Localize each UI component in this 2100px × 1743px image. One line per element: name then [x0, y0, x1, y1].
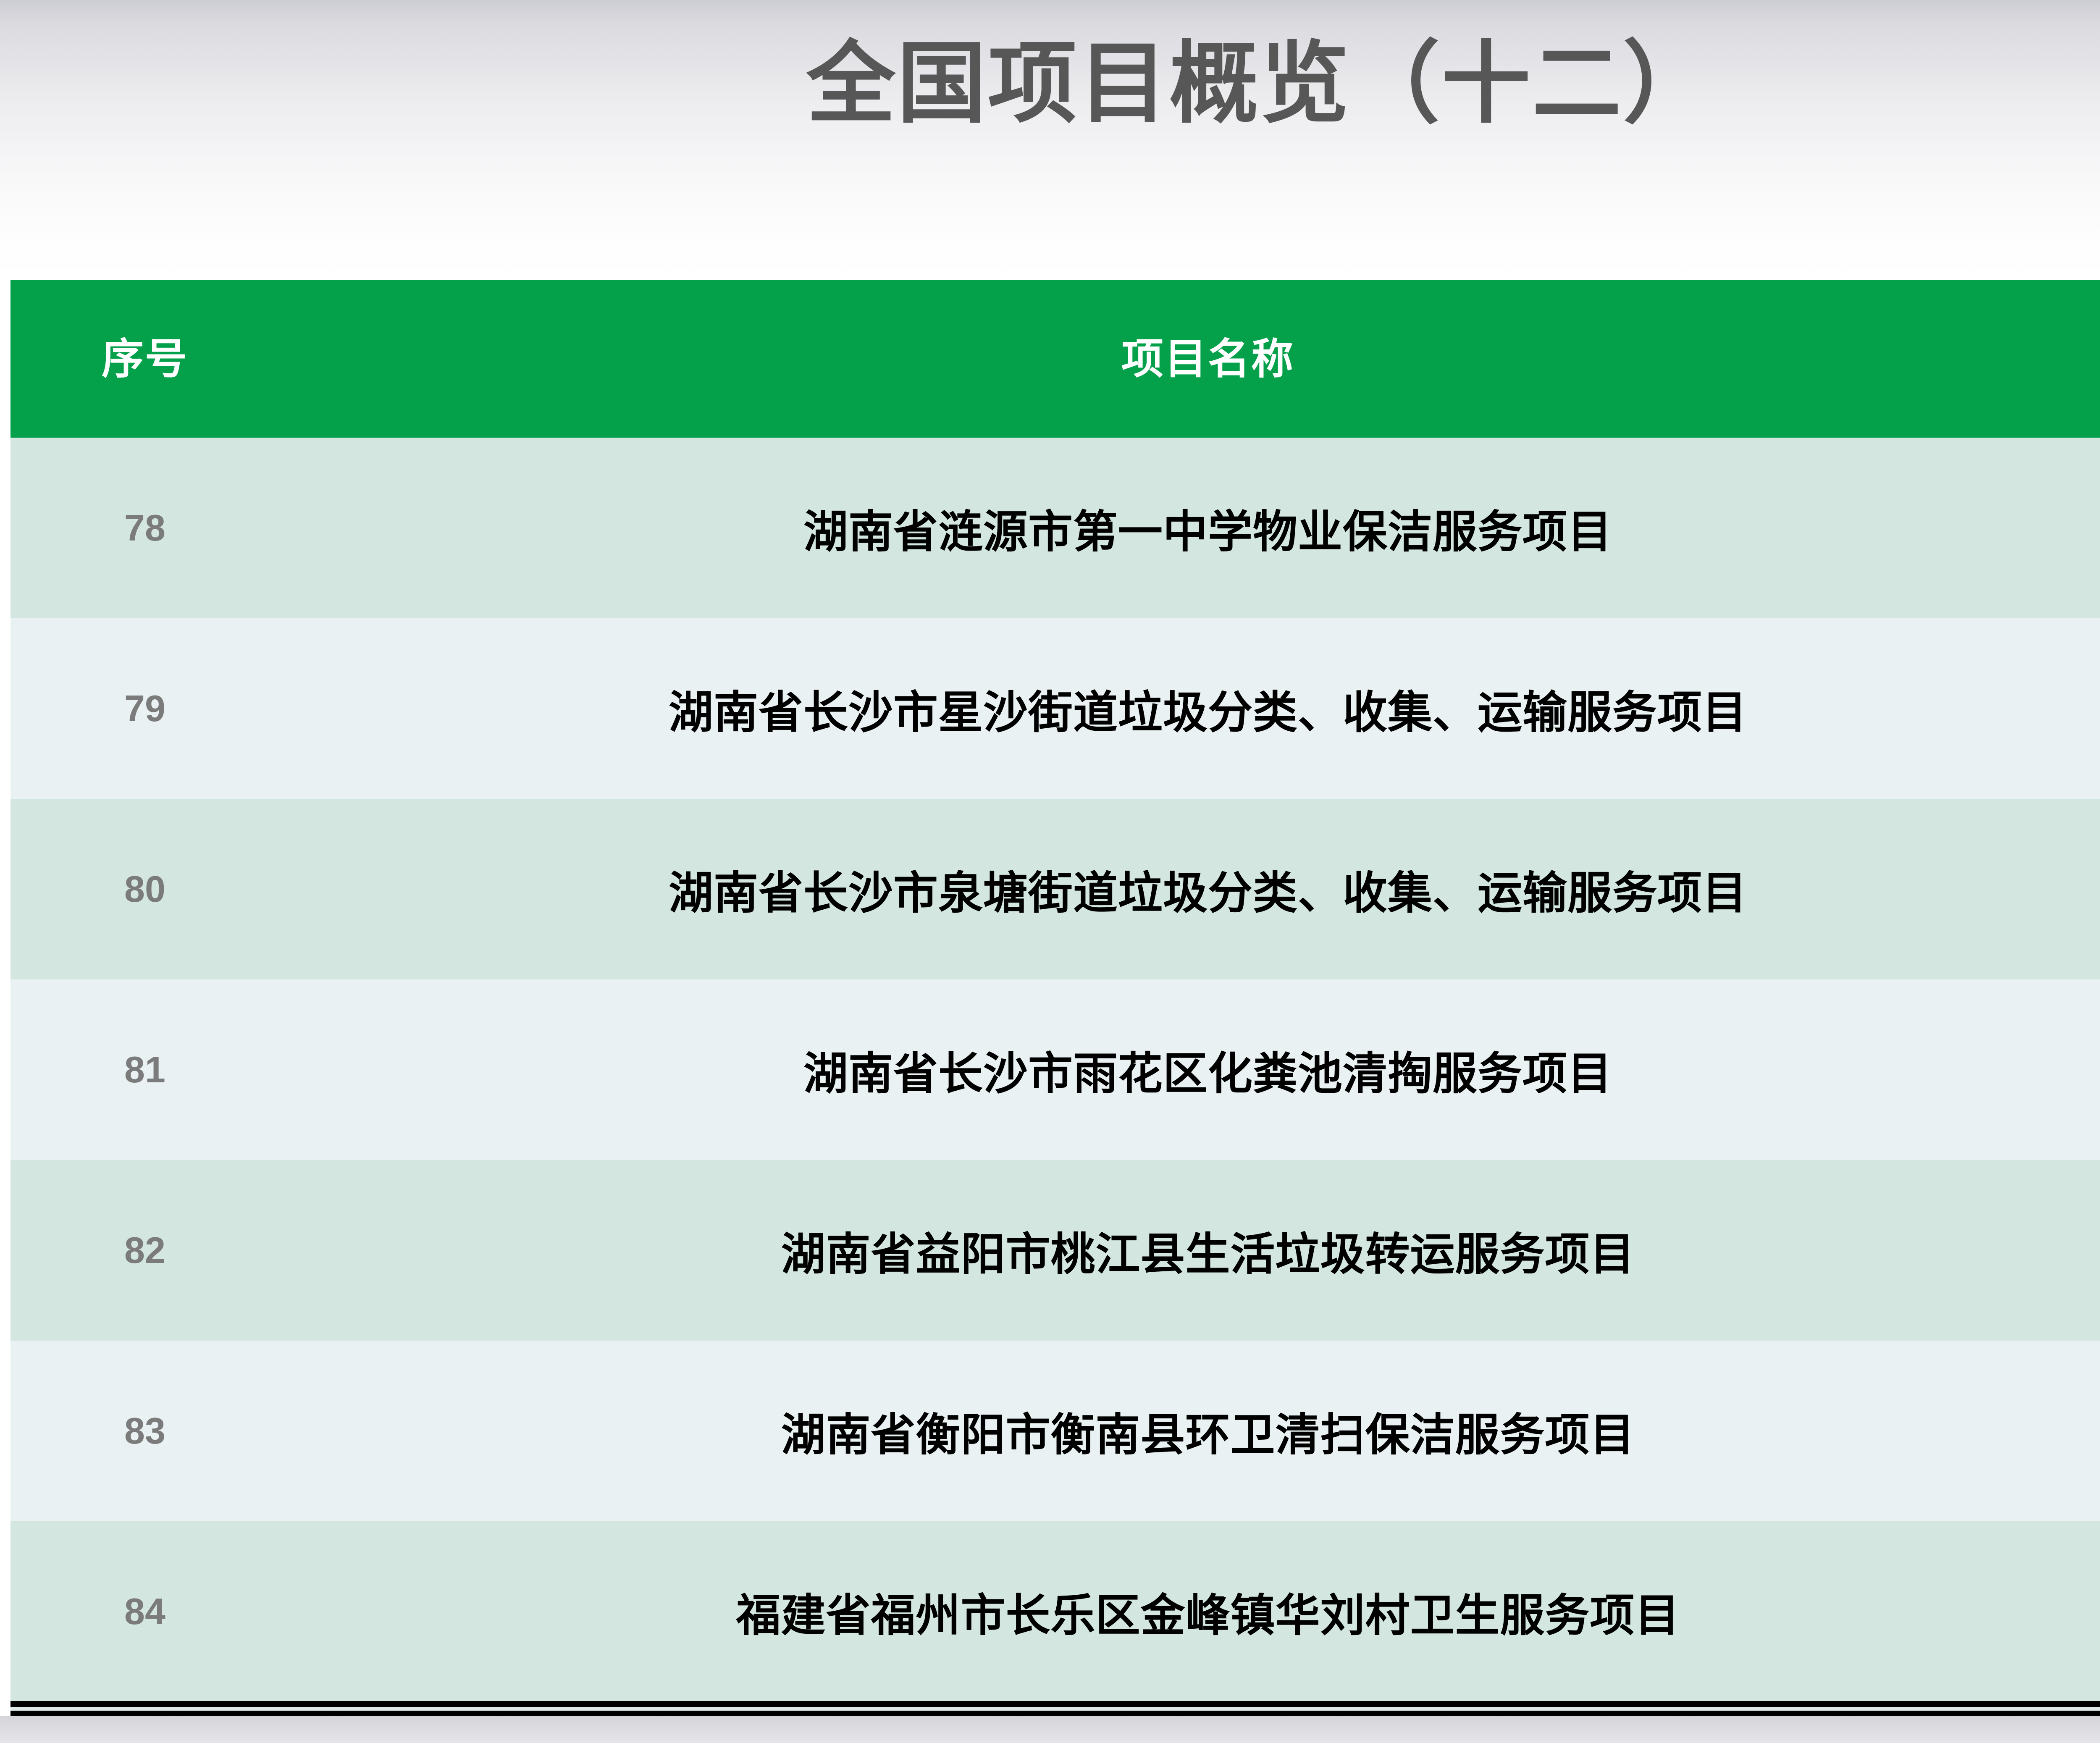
- column-header-serial: 序号: [10, 338, 279, 380]
- table-row: 83 湖南省衡阳市衡南县环卫清扫保洁服务项目 682万: [10, 1341, 2100, 1521]
- cell-project-name: 湖南省益阳市桃江县生活垃圾转运服务项目: [279, 1218, 2100, 1283]
- projects-table: 序号 项目名称 合同金额 78 湖南省涟源市第一中学物业保洁服务项目 257万 …: [10, 280, 2100, 1702]
- bottom-divider-gap: [10, 1707, 2100, 1711]
- table-row: 84 福建省福州市长乐区金峰镇华刘村卫生服务项目 100万: [10, 1521, 2100, 1702]
- bottom-background-band: [0, 1716, 2100, 1743]
- cell-serial: 79: [10, 687, 279, 730]
- cell-serial: 83: [10, 1410, 279, 1452]
- cell-project-name: 湖南省衡阳市衡南县环卫清扫保洁服务项目: [279, 1399, 2100, 1463]
- cell-project-name: 福建省福州市长乐区金峰镇华刘村卫生服务项目: [279, 1579, 2100, 1644]
- cell-project-name: 湖南省长沙市星沙街道垃圾分类、收集、运输服务项目: [279, 676, 2100, 741]
- table-row: 79 湖南省长沙市星沙街道垃圾分类、收集、运输服务项目 810万: [10, 618, 2100, 799]
- cell-serial: 78: [10, 507, 279, 549]
- cell-project-name: 湖南省长沙市泉塘街道垃圾分类、收集、运输服务项目: [279, 857, 2100, 921]
- cell-serial: 80: [10, 868, 279, 911]
- page-title: 全国项目概览（十二）: [0, 37, 2100, 131]
- cell-serial: 82: [10, 1229, 279, 1272]
- table-row: 80 湖南省长沙市泉塘街道垃圾分类、收集、运输服务项目 380万: [10, 799, 2100, 979]
- cell-project-name: 湖南省长沙市雨花区化粪池清掏服务项目: [279, 1037, 2100, 1102]
- bottom-divider-upper: [10, 1701, 2100, 1707]
- table-row: 78 湖南省涟源市第一中学物业保洁服务项目 257万: [10, 438, 2100, 618]
- cell-project-name: 湖南省涟源市第一中学物业保洁服务项目: [279, 496, 2100, 560]
- bottom-divider-lower: [10, 1711, 2100, 1716]
- table-row: 81 湖南省长沙市雨花区化粪池清掏服务项目 390万: [10, 979, 2100, 1160]
- table-header-row: 序号 项目名称 合同金额: [10, 280, 2100, 438]
- cell-serial: 81: [10, 1048, 279, 1091]
- slide-canvas: 全国项目概览（十二） 序号 项目名称 合同金额 78 湖南省涟源市第一中学物业保…: [0, 0, 2100, 1743]
- table-row: 82 湖南省益阳市桃江县生活垃圾转运服务项目 600万: [10, 1160, 2100, 1341]
- column-header-project-name: 项目名称: [279, 338, 2100, 380]
- cell-serial: 84: [10, 1590, 279, 1633]
